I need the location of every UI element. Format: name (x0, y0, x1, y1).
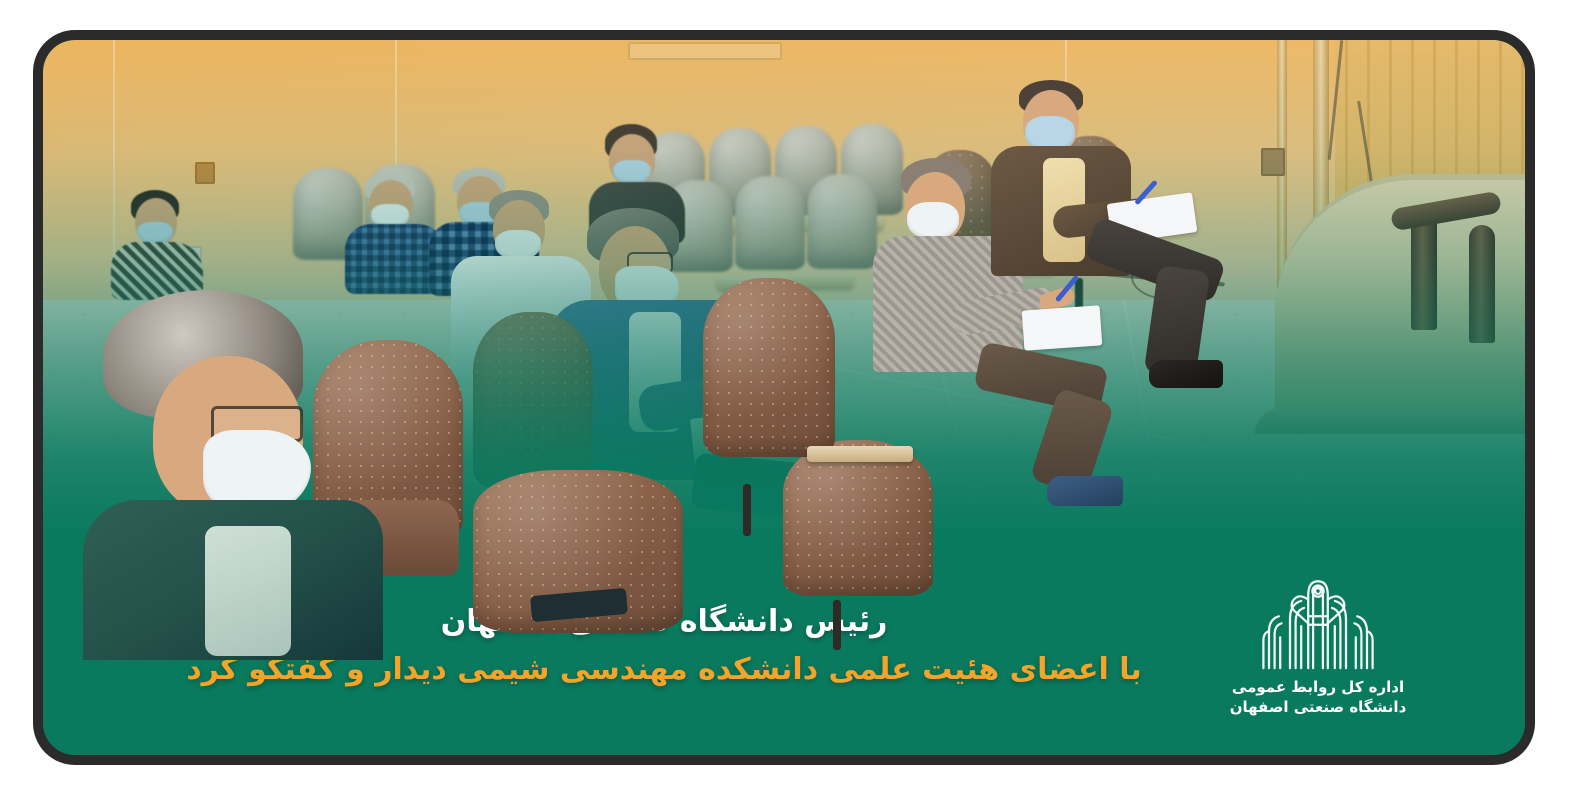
seat (473, 470, 683, 660)
card-inner: رئیس دانشگاه صنعتی اصفهان با اعضای هئیت … (43, 40, 1525, 755)
iut-arches-emblem-icon (1248, 563, 1388, 671)
attendee (991, 80, 1221, 360)
screenshot-root: رئیس دانشگاه صنعتی اصفهان با اعضای هئیت … (0, 0, 1572, 800)
logo-text-line-1: اداره کل روابط عمومی (1223, 677, 1413, 697)
news-card: رئیس دانشگاه صنعتی اصفهان با اعضای هئیت … (33, 30, 1535, 765)
logo-text-line-2: دانشگاه صنعتی اصفهان (1223, 697, 1413, 717)
shoe (1149, 360, 1223, 388)
wall-junction-box (1261, 148, 1285, 176)
stage-edge (1255, 408, 1525, 434)
wall-socket (195, 162, 215, 184)
attendee (111, 188, 211, 298)
public-relations-logo: اداره کل روابط عمومی دانشگاه صنعتی اصفها… (1223, 563, 1413, 718)
wall-picture-frame (628, 42, 782, 60)
attendee-foreground (83, 290, 413, 650)
shoe (1047, 476, 1123, 506)
seat (703, 278, 835, 508)
stage-railing-post (1469, 225, 1495, 343)
